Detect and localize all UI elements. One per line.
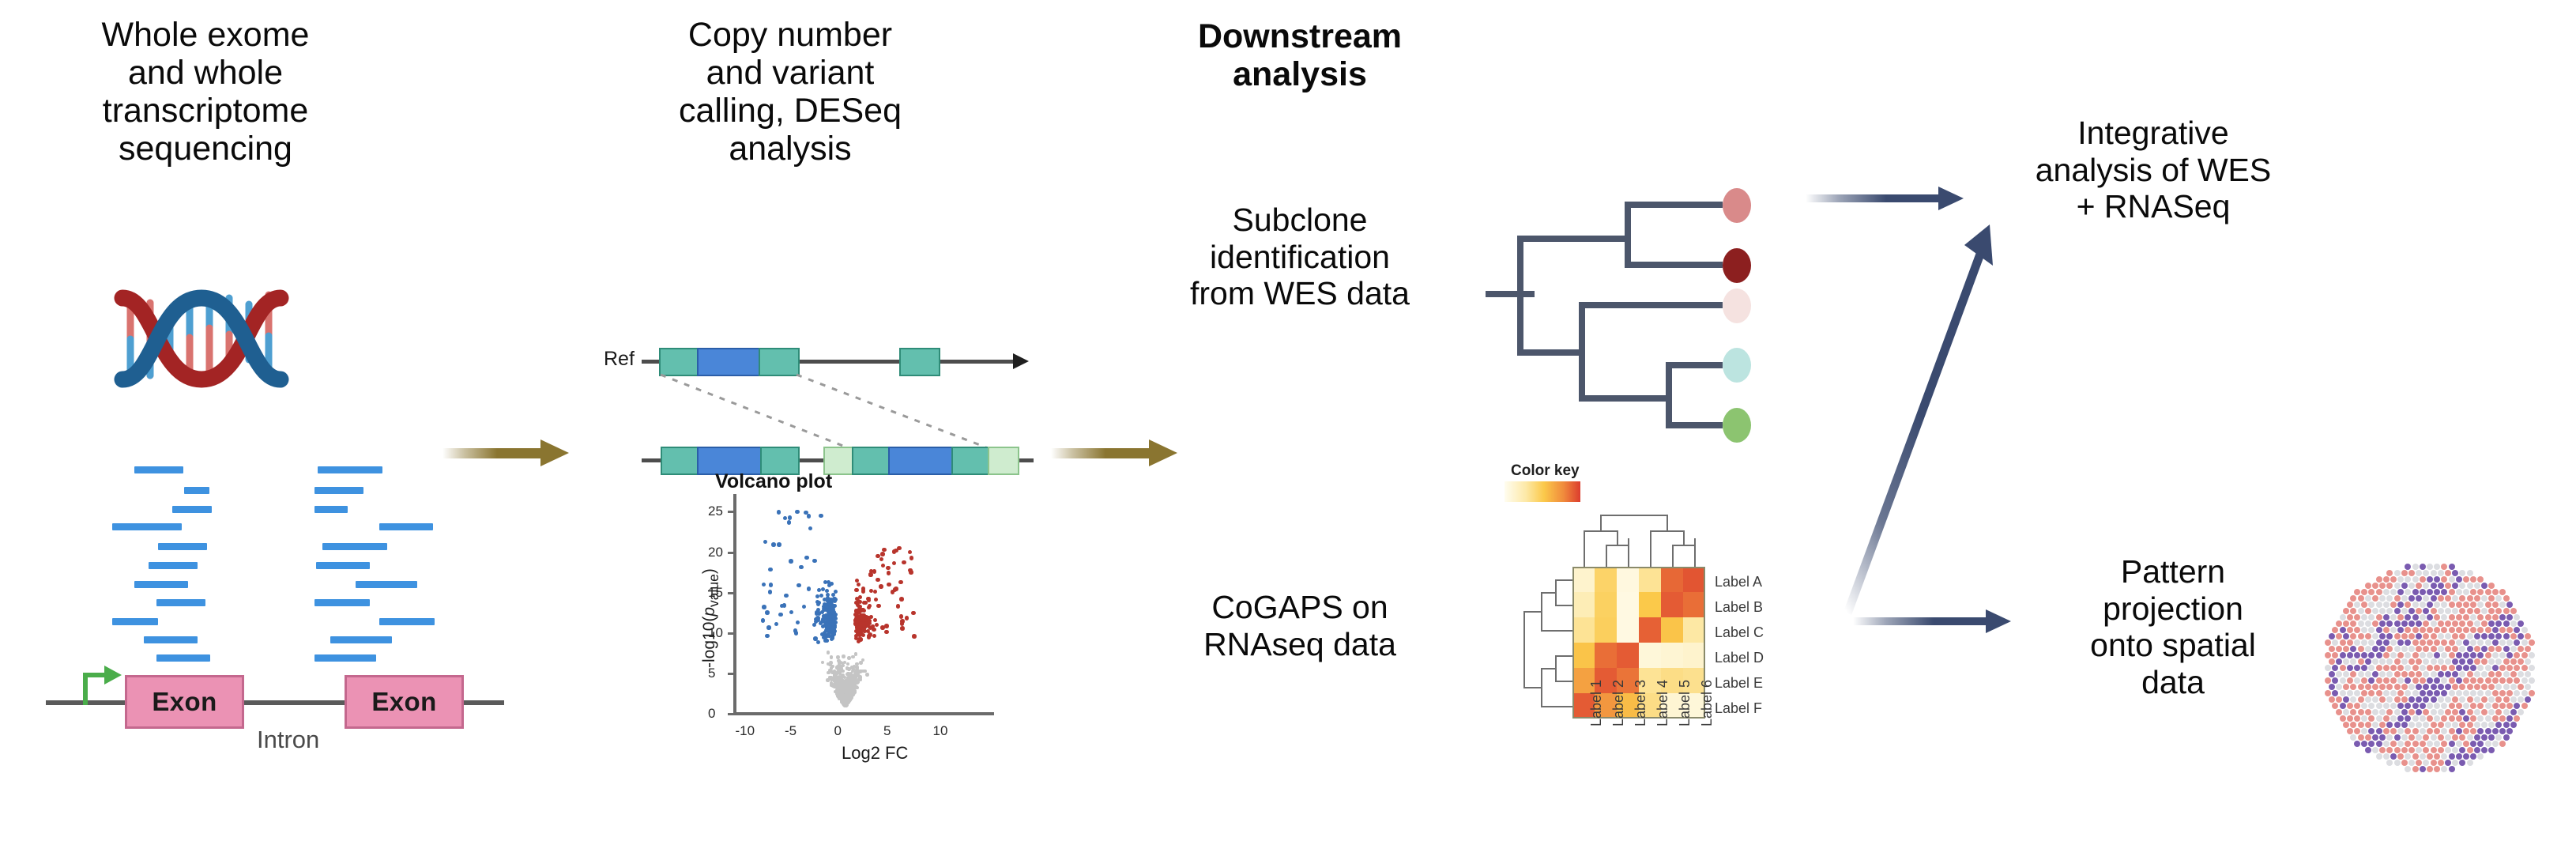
- spatial-spot: [2452, 595, 2458, 602]
- spatial-spot: [2416, 696, 2422, 703]
- volcano-point: [859, 637, 863, 641]
- spatial-spot: [2343, 684, 2349, 690]
- spatial-spot: [2401, 658, 2408, 665]
- spatial-spot: [2423, 620, 2429, 627]
- spatial-spot: [2394, 620, 2401, 627]
- spatial-spot: [2514, 652, 2520, 658]
- spatial-spot: [2474, 583, 2480, 589]
- volcano-point: [797, 583, 801, 588]
- spatial-spot: [2492, 665, 2499, 671]
- spatial-spot: [2427, 602, 2433, 608]
- spatial-spot: [2420, 665, 2426, 671]
- spatial-spot: [2397, 753, 2404, 760]
- spatial-spot: [2412, 576, 2419, 583]
- spatial-spot: [2488, 595, 2495, 602]
- spatial-spot: [2394, 583, 2401, 589]
- arrow-head-icon: [540, 439, 569, 466]
- heatmap-col-label: Label 6: [1699, 680, 1715, 726]
- spatial-spot: [2518, 684, 2524, 690]
- spatial-spot: [2495, 671, 2502, 677]
- spatial-spot: [2521, 690, 2528, 696]
- spatial-spot: [2452, 583, 2458, 589]
- spatial-spot: [2503, 646, 2510, 652]
- spatial-spot: [2350, 633, 2356, 639]
- spatial-spot: [2481, 734, 2487, 741]
- spatial-spot: [2423, 747, 2429, 753]
- spatial-spot: [2372, 684, 2378, 690]
- spatial-spot: [2441, 753, 2447, 760]
- spatial-spot: [2361, 652, 2367, 658]
- spatial-spot: [2408, 595, 2415, 602]
- spatial-spot: [2445, 760, 2451, 766]
- spatial-spot: [2467, 646, 2473, 652]
- spatial-spot: [2354, 677, 2360, 684]
- spatial-spot: [2431, 747, 2437, 753]
- volcano-point: [861, 633, 865, 637]
- spatial-spot: [2332, 677, 2338, 684]
- spatial-spot: [2427, 652, 2433, 658]
- spatial-spot: [2390, 728, 2397, 734]
- spatial-spot: [2503, 684, 2510, 690]
- spatial-spot: [2459, 722, 2465, 728]
- spatial-spot: [2485, 728, 2491, 734]
- spatial-spot: [2449, 614, 2455, 620]
- spatial-spot: [2390, 589, 2397, 595]
- spatial-spot: [2521, 639, 2528, 646]
- volcano-point: [862, 609, 866, 613]
- spatial-spot: [2332, 627, 2338, 633]
- heatmap-col-label: Label 4: [1655, 680, 1671, 726]
- spatial-spot: [2372, 620, 2378, 627]
- gene-model: Exon Exon Intron: [32, 656, 522, 759]
- spatial-spot: [2485, 589, 2491, 595]
- spatial-spot: [2408, 633, 2415, 639]
- spatial-spot: [2427, 690, 2433, 696]
- spatial-spot: [2438, 658, 2444, 665]
- spatial-spot: [2431, 696, 2437, 703]
- spatial-spot: [2467, 709, 2473, 715]
- spatial-spot: [2420, 690, 2426, 696]
- spatial-spot: [2449, 652, 2455, 658]
- spatial-spot: [2354, 741, 2360, 747]
- spatial-spot: [2354, 602, 2360, 608]
- spatial-spot: [2350, 608, 2356, 614]
- spatial-spot: [2412, 703, 2419, 709]
- spatial-spot: [2420, 564, 2426, 570]
- spatial-spot: [2488, 709, 2495, 715]
- spatial-spot: [2347, 627, 2353, 633]
- volcano-point: [827, 651, 830, 654]
- spatial-spot: [2368, 665, 2375, 671]
- volcano-point: [855, 623, 859, 627]
- spatial-spot: [2477, 652, 2484, 658]
- spatial-spot: [2347, 728, 2353, 734]
- spatial-spot: [2452, 684, 2458, 690]
- spatial-spot: [2467, 595, 2473, 602]
- volcano-point: [815, 610, 819, 615]
- spatial-spot: [2397, 715, 2404, 722]
- spatial-spot: [2365, 671, 2371, 677]
- spatial-spot: [2488, 722, 2495, 728]
- spatial-spot: [2390, 753, 2397, 760]
- spatial-spot: [2510, 633, 2517, 639]
- spatial-spot: [2495, 709, 2502, 715]
- spatial-spot: [2470, 703, 2476, 709]
- volcano-point: [905, 616, 910, 620]
- spatial-spot: [2434, 614, 2440, 620]
- spatial-spot: [2401, 646, 2408, 652]
- spatial-spot: [2390, 576, 2397, 583]
- spatial-spot: [2416, 583, 2422, 589]
- spatial-spot: [2372, 722, 2378, 728]
- spatial-spot: [2441, 652, 2447, 658]
- spatial-spot: [2416, 709, 2422, 715]
- col1-title: Whole exomeand wholetranscriptomesequenc…: [47, 16, 363, 168]
- volcano-point: [836, 655, 840, 659]
- spatial-spot: [2361, 741, 2367, 747]
- spatial-spot: [2408, 583, 2415, 589]
- spatial-spot: [2518, 646, 2524, 652]
- spatial-spot: [2401, 760, 2408, 766]
- spatial-spot: [2510, 722, 2517, 728]
- spatial-spot: [2514, 703, 2520, 709]
- spatial-spot: [2394, 709, 2401, 715]
- spatial-spot: [2431, 583, 2437, 589]
- spatial-spot: [2438, 646, 2444, 652]
- volcano-point: [886, 566, 891, 571]
- volcano-point: [768, 568, 773, 572]
- spatial-spot: [2325, 639, 2331, 646]
- spatial-spot: [2481, 696, 2487, 703]
- spatial-spot: [2499, 690, 2506, 696]
- spatial-spot: [2365, 734, 2371, 741]
- spatial-spot: [2463, 602, 2469, 608]
- spatial-spot: [2361, 627, 2367, 633]
- spatial-spot: [2441, 564, 2447, 570]
- spatial-spot: [2441, 614, 2447, 620]
- spatial-spot: [2474, 696, 2480, 703]
- spatial-spot: [2459, 760, 2465, 766]
- spatial-spot: [2361, 665, 2367, 671]
- volcano-point: [807, 514, 812, 519]
- spatial-spot: [2423, 671, 2429, 677]
- spatial-spot: [2434, 665, 2440, 671]
- spatial-spot: [2412, 627, 2419, 633]
- spatial-spot: [2467, 608, 2473, 614]
- spatial-spot: [2386, 583, 2393, 589]
- navy-arrow-to-pattern: [1853, 613, 2011, 630]
- spatial-spot: [2427, 753, 2433, 760]
- spatial-spot: [2456, 703, 2462, 709]
- spatial-spot: [2438, 709, 2444, 715]
- spatial-spot: [2383, 741, 2390, 747]
- volcano-point: [859, 661, 863, 665]
- volcano-point: [854, 588, 858, 592]
- spatial-spot: [2441, 766, 2447, 772]
- spatial-spot: [2488, 696, 2495, 703]
- spatial-spot: [2340, 690, 2346, 696]
- volcano-point: [819, 514, 823, 519]
- spatial-spot: [2481, 620, 2487, 627]
- gold-arrow-2: [1051, 443, 1177, 463]
- spatial-spot: [2452, 608, 2458, 614]
- volcano-point: [848, 696, 852, 700]
- spatial-spot: [2354, 589, 2360, 595]
- volcano-point: [834, 590, 838, 594]
- spatial-spot: [2438, 583, 2444, 589]
- spatial-spot: [2477, 715, 2484, 722]
- volcano-point: [823, 636, 827, 639]
- spatial-spot: [2506, 665, 2513, 671]
- spatial-spot: [2423, 608, 2429, 614]
- spatial-spot: [2525, 658, 2531, 665]
- spatial-spot: [2332, 652, 2338, 658]
- spatial-spot: [2445, 734, 2451, 741]
- spatial-spot: [2336, 633, 2342, 639]
- spatial-spot: [2350, 696, 2356, 703]
- volcano-point: [897, 546, 902, 551]
- volcano-point: [827, 671, 830, 675]
- spatial-spot: [2416, 608, 2422, 614]
- spatial-spot: [2438, 620, 2444, 627]
- heatmap-col-label: Label 1: [1588, 680, 1605, 726]
- spatial-spot: [2361, 703, 2367, 709]
- spatial-spot: [2416, 734, 2422, 741]
- spatial-spot: [2529, 652, 2535, 658]
- spatial-spot: [2459, 734, 2465, 741]
- spatial-spot: [2420, 703, 2426, 709]
- spatial-spot: [2329, 696, 2335, 703]
- spatial-spot: [2401, 583, 2408, 589]
- spatial-spot: [2477, 576, 2484, 583]
- volcano-point: [827, 583, 831, 587]
- spatial-spot: [2449, 602, 2455, 608]
- spatial-spot: [2477, 665, 2484, 671]
- transcript-schematic: Ref: [593, 316, 1035, 466]
- spatial-spot: [2376, 652, 2382, 658]
- spatial-spot: [2376, 728, 2382, 734]
- spatial-spot: [2427, 614, 2433, 620]
- volcano-point: [826, 593, 830, 597]
- navy-diagonal-arrow-to-integrative: [1810, 213, 2031, 624]
- spatial-spot: [2463, 690, 2469, 696]
- spatial-spot: [2431, 760, 2437, 766]
- spatial-spot: [2459, 570, 2465, 576]
- spatial-spot: [2416, 722, 2422, 728]
- spatial-spot: [2467, 620, 2473, 627]
- spatial-spot: [2397, 703, 2404, 709]
- spatial-spot: [2470, 602, 2476, 608]
- spatial-spot: [2361, 690, 2367, 696]
- spatial-spot: [2383, 589, 2390, 595]
- spatial-spot: [2499, 652, 2506, 658]
- spatial-spot: [2463, 665, 2469, 671]
- spatial-spot: [2492, 741, 2499, 747]
- spatial-spot: [2386, 608, 2393, 614]
- spatial-spot: [2445, 722, 2451, 728]
- spatial-spot: [2394, 608, 2401, 614]
- volcano-point: [847, 656, 851, 660]
- tree-leaf-3-branch: [1579, 302, 1723, 308]
- spatial-spot: [2332, 703, 2338, 709]
- spatial-spot: [2499, 589, 2506, 595]
- volcano-point: [784, 594, 789, 598]
- tree-branch-lower: [1517, 349, 1582, 356]
- dna-helix-icon: [99, 281, 304, 395]
- spatial-spot: [2445, 684, 2451, 690]
- spatial-spot: [2456, 753, 2462, 760]
- spatial-spot: [2347, 652, 2353, 658]
- spatial-spot: [2379, 608, 2386, 614]
- spatial-spot: [2427, 715, 2433, 722]
- spatial-spot: [2459, 696, 2465, 703]
- spatial-spot: [2449, 564, 2455, 570]
- spatial-spot: [2510, 684, 2517, 690]
- spatial-spot: [2372, 595, 2378, 602]
- spatial-spot: [2445, 583, 2451, 589]
- volcano-point: [912, 634, 917, 639]
- spatial-spot: [2358, 620, 2364, 627]
- spatial-spot: [2495, 608, 2502, 614]
- spatial-spot: [2488, 620, 2495, 627]
- spatial-spot: [2394, 595, 2401, 602]
- spatial-spot: [2347, 614, 2353, 620]
- spatial-spot: [2431, 722, 2437, 728]
- spatial-spot: [2376, 614, 2382, 620]
- spatial-spot: [2343, 696, 2349, 703]
- arrow-shaft: [1051, 448, 1151, 458]
- spatial-spot: [2459, 709, 2465, 715]
- volcano-point: [911, 611, 916, 616]
- spatial-spot: [2467, 747, 2473, 753]
- spatial-spot: [2445, 696, 2451, 703]
- spatial-spot: [2401, 620, 2408, 627]
- volcano-point: [796, 620, 800, 625]
- spatial-spot: [2394, 633, 2401, 639]
- spatial-spot: [2477, 728, 2484, 734]
- spatial-spot: [2485, 614, 2491, 620]
- spatial-spot: [2376, 741, 2382, 747]
- tree-root-stem: [1486, 291, 1535, 297]
- spatial-spot: [2434, 703, 2440, 709]
- spatial-spot: [2354, 665, 2360, 671]
- spatial-spot: [2358, 633, 2364, 639]
- spatial-spot: [2495, 646, 2502, 652]
- spatial-spot: [2394, 671, 2401, 677]
- spatial-spot: [2441, 576, 2447, 583]
- spatial-spot: [2401, 595, 2408, 602]
- spatial-spot: [2405, 614, 2411, 620]
- volcano-point: [881, 564, 886, 568]
- spatial-spot: [2379, 658, 2386, 665]
- volcano-point: [765, 610, 770, 615]
- sample-exon-7: [951, 447, 991, 475]
- spatial-spot: [2495, 734, 2502, 741]
- spatial-spot: [2383, 614, 2390, 620]
- spatial-spot: [2525, 646, 2531, 652]
- spatial-spot: [2521, 652, 2528, 658]
- pattern-projection-label: Patternprojectiononto spatialdata: [2027, 553, 2319, 701]
- spatial-spot: [2412, 614, 2419, 620]
- spatial-spot: [2477, 589, 2484, 595]
- spatial-spot: [2343, 722, 2349, 728]
- tree-node-a-vertical: [1625, 202, 1631, 268]
- spatial-spot: [2405, 690, 2411, 696]
- spatial-spot: [2350, 658, 2356, 665]
- spatial-spot: [2412, 639, 2419, 646]
- spatial-spot: [2474, 684, 2480, 690]
- spatial-spot: [2463, 677, 2469, 684]
- spatial-spot: [2405, 576, 2411, 583]
- spatial-spot: [2383, 690, 2390, 696]
- tree-leaf-node-5: [1723, 408, 1751, 443]
- spatial-spot: [2383, 639, 2390, 646]
- spatial-spot: [2459, 684, 2465, 690]
- spatial-spot: [2383, 602, 2390, 608]
- spatial-spot: [2343, 633, 2349, 639]
- volcano-point: [821, 624, 825, 628]
- spatial-spot: [2401, 709, 2408, 715]
- spatial-spot: [2525, 671, 2531, 677]
- spatial-spot: [2336, 671, 2342, 677]
- spatial-spot: [2441, 715, 2447, 722]
- spatial-spot: [2474, 633, 2480, 639]
- spatial-spot: [2452, 696, 2458, 703]
- spatial-spot: [2434, 715, 2440, 722]
- spatial-spot: [2354, 728, 2360, 734]
- spatial-spot: [2488, 671, 2495, 677]
- spatial-spot: [2416, 760, 2422, 766]
- spatial-spot: [2510, 620, 2517, 627]
- spatial-spot: [2445, 633, 2451, 639]
- spatial-spot: [2456, 639, 2462, 646]
- spatial-spot: [2368, 715, 2375, 722]
- spatial-spot: [2343, 620, 2349, 627]
- volcano-point: [873, 618, 877, 622]
- spatial-spot: [2325, 652, 2331, 658]
- spatial-spot: [2506, 652, 2513, 658]
- spatial-spot: [2394, 760, 2401, 766]
- volcano-point: [866, 597, 871, 602]
- spatial-spot: [2405, 627, 2411, 633]
- spatial-spot: [2412, 728, 2419, 734]
- spatial-spot: [2463, 703, 2469, 709]
- spatial-spot: [2361, 589, 2367, 595]
- volcano-point: [876, 578, 880, 583]
- spatial-spot: [2354, 703, 2360, 709]
- volcano-point: [793, 628, 798, 633]
- spatial-spot: [2386, 696, 2393, 703]
- tree-leaf-node-4: [1723, 348, 1751, 383]
- spatial-spot: [2499, 614, 2506, 620]
- spatial-spot: [2503, 671, 2510, 677]
- spatial-spot: [2390, 627, 2397, 633]
- spatial-spot: [2470, 753, 2476, 760]
- spatial-spot: [2485, 627, 2491, 633]
- exon-right: Exon: [345, 675, 464, 729]
- volcano-point: [778, 613, 783, 617]
- spatial-spot: [2401, 722, 2408, 728]
- spatial-spot: [2329, 633, 2335, 639]
- volcano-point: [804, 556, 809, 560]
- spatial-spot: [2467, 760, 2473, 766]
- spatial-spot: [2390, 690, 2397, 696]
- spatial-spot: [2492, 728, 2499, 734]
- spatial-spot: [2452, 760, 2458, 766]
- spatial-spot: [2379, 583, 2386, 589]
- arrow-shaft: [443, 448, 542, 458]
- spatial-spot: [2510, 646, 2517, 652]
